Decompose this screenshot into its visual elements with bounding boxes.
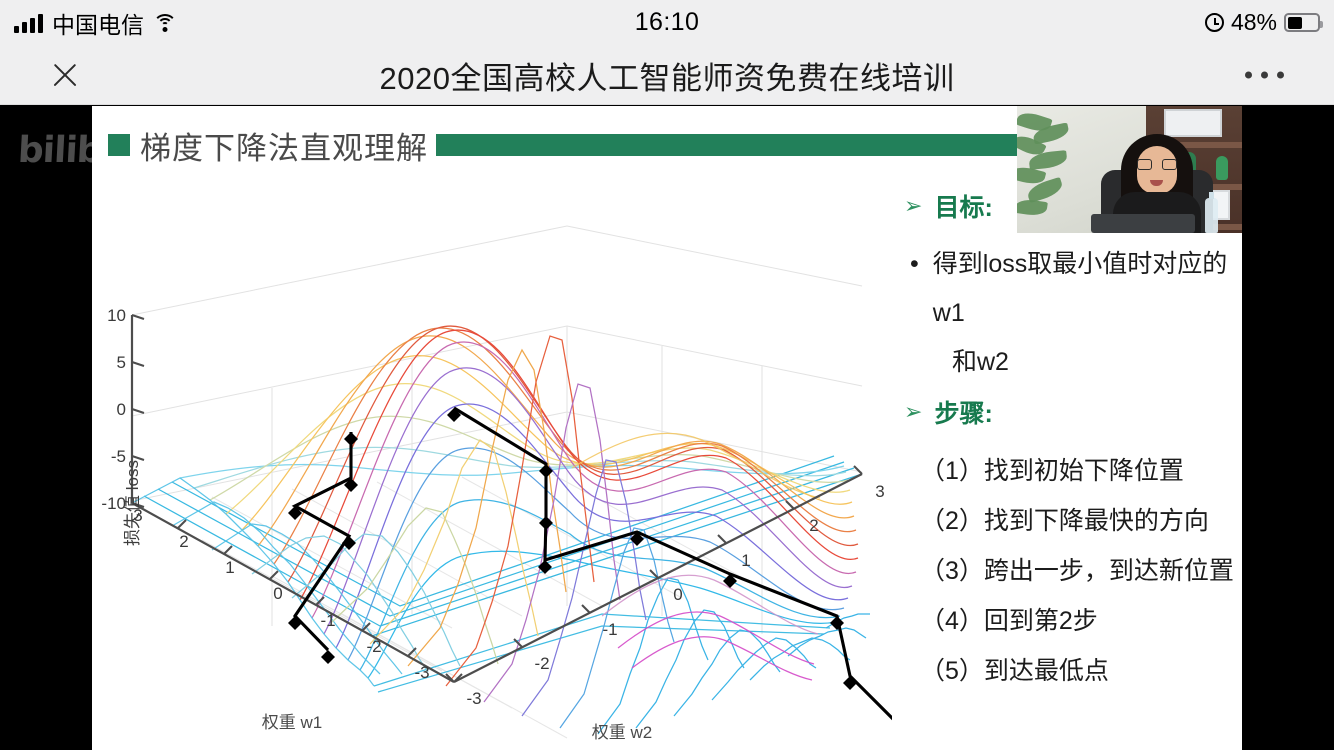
- steps-heading: 步骤:: [934, 394, 992, 430]
- arrow-bullet-icon: ➢: [904, 195, 922, 217]
- goal-text-line1: 得到loss取最小值时对应的w1: [933, 240, 1242, 338]
- svg-text:0: 0: [117, 400, 126, 419]
- axis-lines: [132, 315, 862, 682]
- steps-block: ➢ 步骤: （1）找到初始下降位置 （2）找到下降最快的方向 （3）跨出一步，到…: [904, 394, 1242, 696]
- goal-heading: 目标:: [934, 188, 992, 224]
- notes-column: ➢ 目标: • 得到loss取最小值时对应的w1 和w2 ➢ 步骤: （1）找到…: [904, 188, 1242, 696]
- x-axis-label: 权重 w1: [262, 713, 322, 732]
- step-item: （1）找到初始下降位置: [920, 446, 1242, 496]
- svg-text:5: 5: [117, 353, 126, 372]
- glasses-icon: [1137, 159, 1177, 170]
- battery-icon: [1284, 13, 1320, 32]
- x-tick-labels: 3 2 1 0 -1 -2 -3: [133, 506, 429, 682]
- status-bar-right: 48%: [1205, 0, 1320, 45]
- svg-text:1: 1: [225, 558, 234, 577]
- step-item: （3）跨出一步，到达新位置: [920, 546, 1242, 596]
- step-item: （4）回到第2步: [920, 596, 1242, 646]
- more-options-icon[interactable]: [1235, 61, 1294, 88]
- svg-text:0: 0: [273, 584, 282, 603]
- svg-text:1: 1: [741, 551, 750, 570]
- arrow-bullet-icon: ➢: [904, 401, 922, 423]
- z-axis-label: 损失值 loss: [118, 460, 143, 546]
- status-bar-center: 16:10: [0, 0, 1334, 45]
- svg-text:10: 10: [107, 306, 126, 325]
- presenter-webcam-overlay: [1017, 106, 1242, 233]
- svg-text:3: 3: [875, 482, 884, 501]
- surface-mesh: [132, 326, 870, 734]
- dot-bullet-icon: •: [910, 240, 919, 338]
- battery-percent-label: 48%: [1231, 9, 1277, 36]
- screen: 中国电信 16:10 48% 2020全国高校人工智能师资免费在线培训 bili…: [0, 0, 1334, 750]
- status-bar: 中国电信 16:10 48%: [0, 0, 1334, 45]
- nav-bar: 2020全国高校人工智能师资免费在线培训: [0, 45, 1334, 105]
- svg-text:-3: -3: [466, 689, 481, 708]
- svg-text:0: 0: [673, 585, 682, 604]
- step-item: （5）到达最低点: [920, 646, 1242, 696]
- webcam-laptop: [1091, 214, 1195, 233]
- surface-plot-svg: 10 5 0 -5 -10: [102, 216, 892, 750]
- title-square-decor: [108, 134, 130, 156]
- svg-text:2: 2: [179, 532, 188, 551]
- alarm-icon: [1205, 13, 1224, 32]
- goal-bullet-row: • 得到loss取最小值时对应的w1: [910, 240, 1242, 338]
- webcam-presenter-face: [1137, 146, 1177, 194]
- step-item: （2）找到下降最快的方向: [920, 496, 1242, 546]
- webcam-foreground-plant: [1017, 110, 1085, 230]
- video-player[interactable]: bilibili 梯度下降法直观理解 损失值 loss: [0, 106, 1334, 750]
- steps-heading-row: ➢ 步骤:: [904, 394, 1242, 430]
- svg-text:-2: -2: [534, 654, 549, 673]
- svg-text:-3: -3: [414, 663, 429, 682]
- svg-text:-1: -1: [602, 620, 617, 639]
- page-title: 2020全国高校人工智能师资免费在线培训: [0, 45, 1334, 105]
- webcam-water-bottle: [1205, 198, 1218, 233]
- loss-surface-figure: 损失值 loss: [102, 216, 892, 750]
- goal-text-line2: 和w2: [952, 338, 1242, 387]
- svg-text:2: 2: [809, 516, 818, 535]
- webcam-plant-decor: [1216, 156, 1228, 180]
- svg-text:-1: -1: [320, 611, 335, 630]
- slide-title: 梯度下降法直观理解: [140, 123, 428, 168]
- clock-label: 16:10: [635, 8, 700, 37]
- y-axis-label: 权重 w2: [592, 723, 652, 742]
- svg-text:-2: -2: [366, 637, 381, 656]
